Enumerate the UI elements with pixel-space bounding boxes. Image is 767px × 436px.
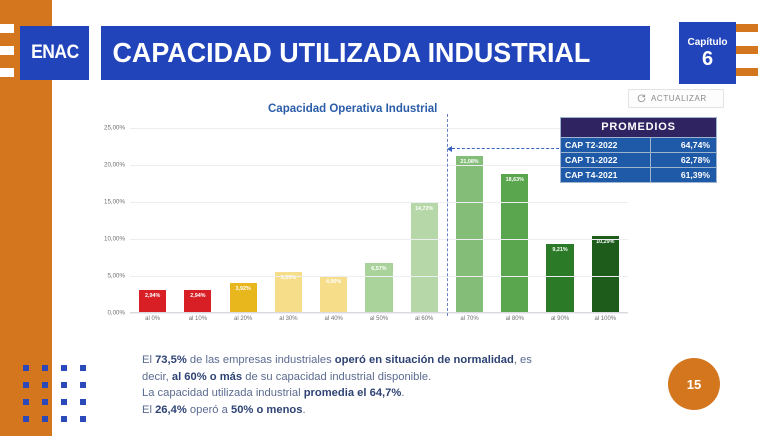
bar-value-label: 2,94% [139, 293, 166, 299]
text-frag-bold: promedia el 64,7% [304, 387, 402, 399]
summary-line-4: El 26,4% operó a 50% o menos. [142, 402, 612, 419]
x-axis-tick-label: al 10% [175, 316, 220, 330]
chart-container: Capacidad Operativa Industrial 2,94%2,94… [88, 100, 628, 335]
bar-value-label: 9,21% [546, 247, 573, 253]
text-frag-bold: 50% o menos [231, 404, 303, 416]
grid-dot [42, 365, 48, 371]
grid-dot [80, 365, 86, 371]
bar-value-label: 2,94% [184, 293, 211, 299]
x-axis-tick-label: al 30% [266, 316, 311, 330]
text-frag: . [302, 404, 305, 416]
promedios-row-label: CAP T2-2022 [561, 138, 651, 153]
chart-bar[interactable]: 21,08% [456, 156, 483, 312]
title-banner: CAPACIDAD UTILIZADA INDUSTRIAL [101, 26, 650, 80]
bar-value-label: 6,57% [365, 266, 392, 272]
chart-bar[interactable]: 4,90% [320, 276, 347, 312]
bar-slot: 4,90% [311, 128, 356, 312]
x-axis-tick-label: al 0% [130, 316, 175, 330]
grid-dot [23, 416, 29, 422]
page-title: CAPACIDAD UTILIZADA INDUSTRIAL [101, 37, 590, 69]
summary-line-3: La capacidad utilizada industrial promed… [142, 385, 612, 402]
chart-bar[interactable]: 9,21% [546, 244, 573, 312]
summary-line-2: decir, al 60% o más de su capacidad indu… [142, 369, 612, 386]
text-frag-bold: al 60% o más [172, 371, 242, 383]
bar-slot: 6,57% [356, 128, 401, 312]
chart-bar[interactable]: 6,57% [365, 263, 392, 312]
text-frag: El [142, 404, 155, 416]
table-row: CAP T1-2022 62,78% [561, 153, 717, 168]
promedios-row-value: 64,74% [651, 138, 717, 153]
enac-logo: ENAC [20, 26, 89, 80]
promedios-header: PROMEDIOS [561, 118, 717, 138]
dash-mark [0, 68, 14, 77]
table-row: CAP T4-2021 61,39% [561, 168, 717, 183]
x-axis-tick-label: al 60% [402, 316, 447, 330]
chart-gridline [130, 165, 628, 166]
bar-value-label: 18,63% [501, 177, 528, 183]
promedios-row-label: CAP T4-2021 [561, 168, 651, 183]
bar-value-label: 4,90% [320, 279, 347, 285]
grid-dot [61, 365, 67, 371]
chart-bar[interactable]: 14,72% [411, 203, 438, 312]
bar-slot: 5,39% [266, 128, 311, 312]
threshold-arrow-annotation [447, 148, 564, 149]
x-axis-tick-label: al 80% [492, 316, 537, 330]
promedios-row-value: 61,39% [651, 168, 717, 183]
bar-slot: 21,08% [447, 128, 492, 312]
summary-line-1: El 73,5% de las empresas industriales op… [142, 352, 612, 369]
grid-dot [42, 382, 48, 388]
grid-dot [23, 382, 29, 388]
chart-gridline [130, 202, 628, 203]
bar-value-label: 3,92% [230, 286, 257, 292]
chapter-badge: Capítulo 6 [679, 22, 736, 84]
table-header-row: PROMEDIOS [561, 118, 717, 138]
chart-gridline [130, 239, 628, 240]
dash-mark [0, 46, 14, 55]
page-number-badge: 15 [668, 358, 720, 410]
promedios-row-label: CAP T1-2022 [561, 153, 651, 168]
page-number: 15 [687, 377, 701, 392]
text-frag: , es [514, 354, 532, 366]
chart-plot-area: 2,94%2,94%3,92%5,39%4,90%6,57%14,72%21,0… [130, 128, 628, 313]
chart-bar[interactable]: 2,94% [184, 290, 211, 312]
bar-slot: 14,72% [402, 128, 447, 312]
dot-grid-decoration [23, 365, 86, 422]
grid-dot [80, 399, 86, 405]
grid-dot [80, 416, 86, 422]
chart-bar[interactable]: 2,94% [139, 290, 166, 312]
bar-slot: 2,94% [130, 128, 175, 312]
refresh-button[interactable]: ACTUALIZAR [628, 89, 724, 108]
grid-dot [61, 399, 67, 405]
bar-slot: 2,94% [175, 128, 220, 312]
x-axis-tick-label: al 70% [447, 316, 492, 330]
promedios-table: PROMEDIOS CAP T2-2022 64,74% CAP T1-2022… [560, 117, 717, 183]
y-axis-tick-label: 20,00% [104, 162, 125, 169]
refresh-icon [637, 94, 646, 103]
bar-value-label: 14,72% [411, 206, 438, 212]
bar-slot: 18,63% [492, 128, 537, 312]
chart-gridline [130, 313, 628, 314]
grid-dot [80, 382, 86, 388]
x-axis-tick-label: al 40% [311, 316, 356, 330]
y-axis-tick-label: 0,00% [107, 310, 125, 317]
grid-dot [61, 416, 67, 422]
bar-slot: 3,92% [221, 128, 266, 312]
y-axis-tick-label: 15,00% [104, 199, 125, 206]
text-frag: operó a [187, 404, 231, 416]
slide-canvas: ENAC CAPACIDAD UTILIZADA INDUSTRIAL Capí… [0, 0, 767, 436]
table-row: CAP T2-2022 64,74% [561, 138, 717, 153]
x-axis-tick-label: al 100% [583, 316, 628, 330]
x-axis-tick-label: al 90% [537, 316, 582, 330]
arrow-line [452, 148, 564, 149]
chapter-label: Capítulo [688, 37, 728, 48]
text-frag: de las empresas industriales [187, 354, 335, 366]
text-frag: . [401, 387, 404, 399]
refresh-label: ACTUALIZAR [651, 94, 707, 103]
text-frag: El [142, 354, 155, 366]
grid-dot [42, 399, 48, 405]
chart-bar[interactable]: 10,29% [592, 236, 619, 312]
grid-dot [23, 365, 29, 371]
dash-mark [0, 24, 14, 33]
grid-dot [42, 416, 48, 422]
y-axis-tick-label: 10,00% [104, 236, 125, 243]
chart-gridline [130, 128, 628, 129]
chart-bar[interactable]: 5,39% [275, 272, 302, 312]
text-frag: La capacidad utilizada industrial [142, 387, 304, 399]
threshold-dashed-line [447, 114, 448, 316]
text-frag: de su capacidad industrial disponible. [242, 371, 431, 383]
x-axis-labels: al 0%al 10%al 20%al 30%al 40%al 50%al 60… [130, 316, 628, 330]
text-frag-bold: 73,5% [155, 354, 187, 366]
text-frag: decir, [142, 371, 172, 383]
summary-text: El 73,5% de las empresas industriales op… [142, 352, 612, 418]
y-axis-tick-label: 5,00% [107, 273, 125, 280]
x-axis-tick-label: al 20% [221, 316, 266, 330]
chart-title: Capacidad Operativa Industrial [268, 103, 437, 115]
grid-dot [23, 399, 29, 405]
chapter-number: 6 [702, 48, 713, 70]
grid-dot [61, 382, 67, 388]
chart-bar[interactable]: 3,92% [230, 283, 257, 312]
left-dash-decoration [0, 24, 14, 90]
text-frag-bold: 26,4% [155, 404, 187, 416]
bar-series: 2,94%2,94%3,92%5,39%4,90%6,57%14,72%21,0… [130, 128, 628, 312]
text-frag-bold: operó en situación de normalidad [335, 354, 514, 366]
promedios-row-value: 62,78% [651, 153, 717, 168]
logo-text: ENAC [31, 42, 79, 64]
y-axis-tick-label: 25,00% [104, 125, 125, 132]
chart-bar[interactable]: 18,63% [501, 174, 528, 312]
x-axis-tick-label: al 50% [356, 316, 401, 330]
chart-gridline [130, 276, 628, 277]
